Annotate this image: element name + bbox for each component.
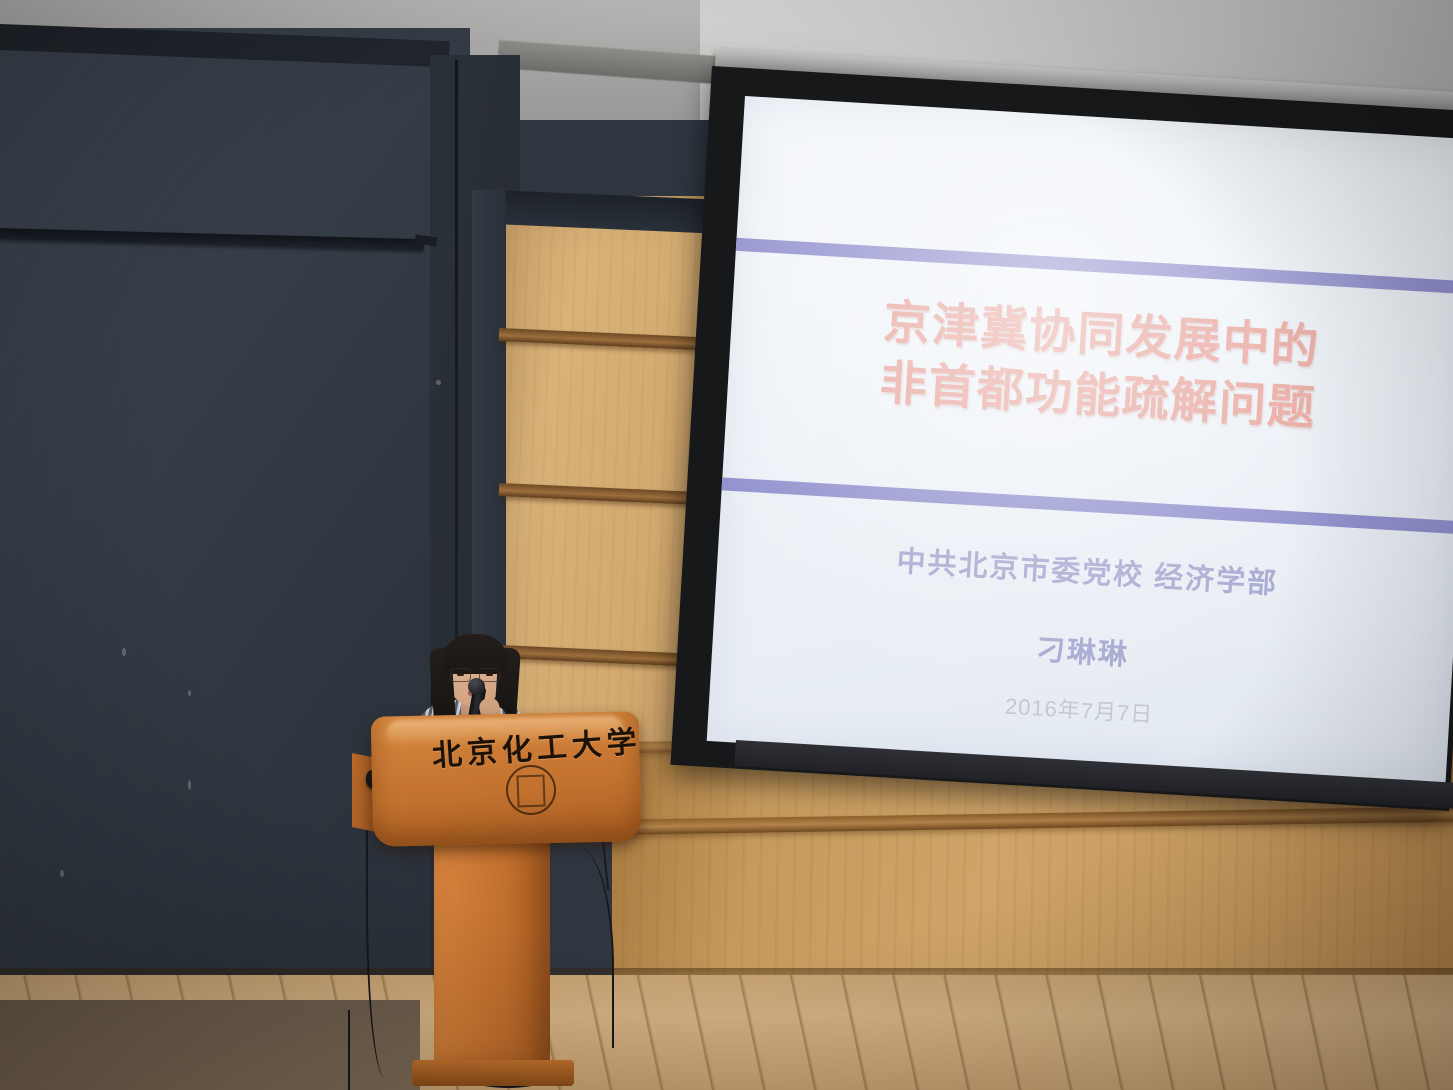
wall-mark: [188, 780, 191, 790]
wall-mark: [188, 690, 191, 696]
dark-wall-panel: [0, 28, 470, 1090]
slide-title: 京津冀协同发展中的 非首都功能疏解问题: [727, 282, 1453, 448]
wall-mark: [436, 380, 441, 385]
slide-organization: 中共北京市委党校 经济学部: [717, 527, 1453, 613]
wall-mark: [122, 648, 126, 656]
slide-accent-bar-bottom: [707, 476, 1453, 536]
wall-mark: [60, 870, 64, 877]
podium-base: [412, 1060, 574, 1086]
power-cable-left-lower: [348, 1010, 376, 1090]
lecture-hall-photo: 京津冀协同发展中的 非首都功能疏解问题 中共北京市委党校 经济学部 刁琳琳 20…: [0, 0, 1453, 1090]
projector-screen-surface: 京津冀协同发展中的 非首都功能疏解问题 中共北京市委党校 经济学部 刁琳琳 20…: [707, 96, 1453, 785]
podium-column: [434, 836, 550, 1068]
